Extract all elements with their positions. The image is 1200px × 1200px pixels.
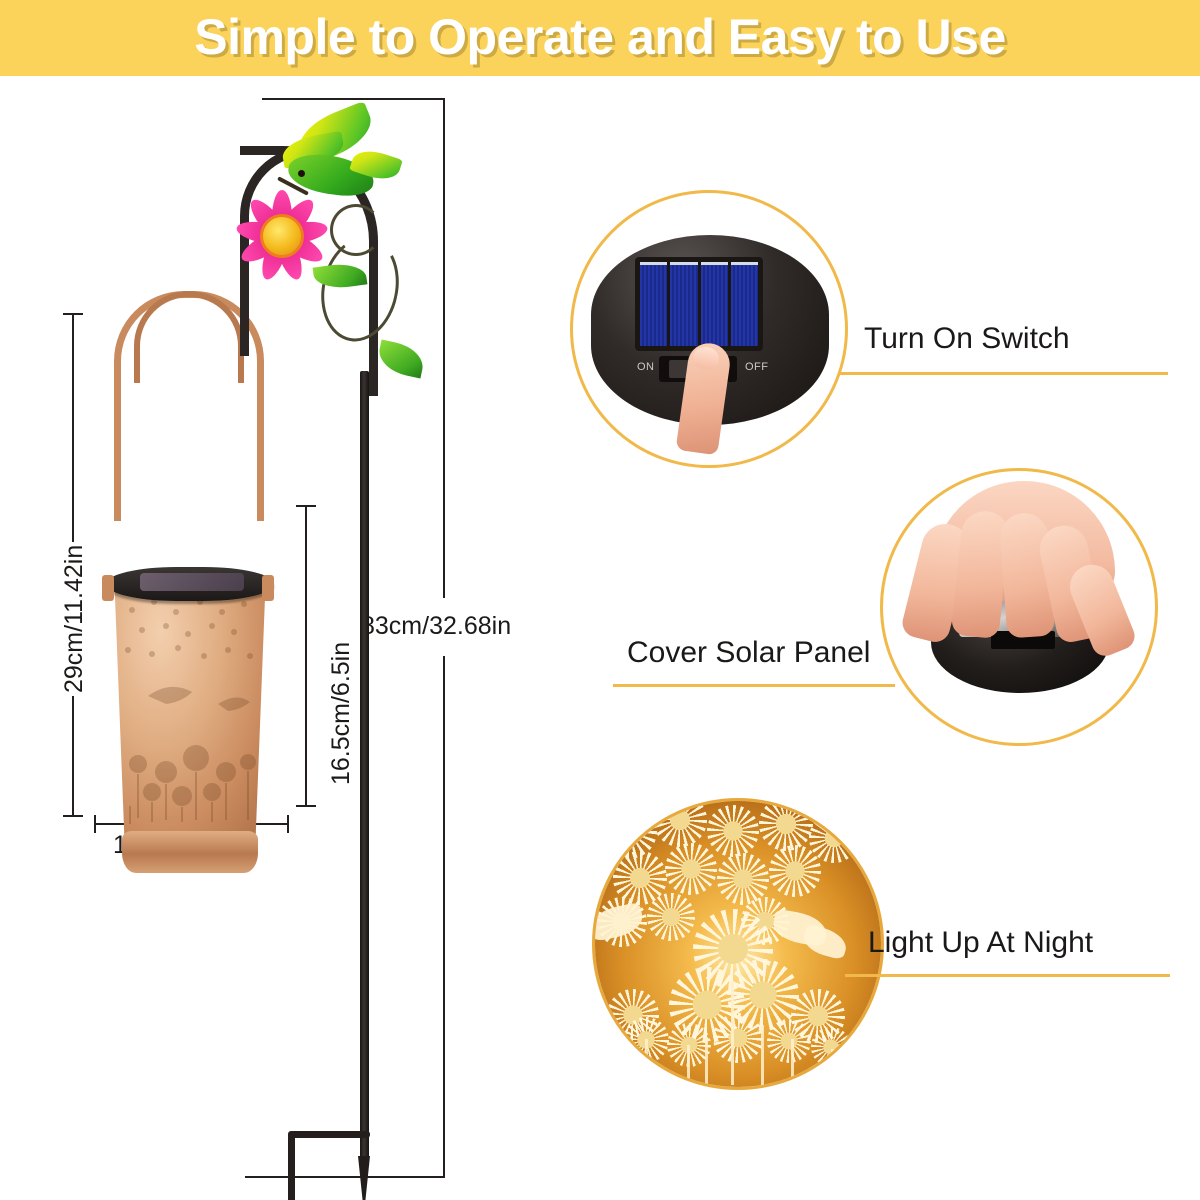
- lantern-cutout-pattern: [108, 586, 272, 838]
- callout-underline-light-up-at-night: [845, 974, 1170, 977]
- infographic-page: Simple to Operate and Easy to Use: [0, 0, 1200, 1200]
- callout-cover-solar-panel: [880, 468, 1158, 746]
- flower-stem: [831, 1049, 834, 1087]
- handle-mount-left: [102, 575, 114, 601]
- pv-cell: [701, 262, 728, 346]
- dim-tick-lantern-height-bottom: [63, 815, 83, 817]
- pv-cell: [731, 262, 758, 346]
- mesh-flower: [707, 805, 759, 857]
- callout-underline-turn-on-switch: [838, 372, 1168, 375]
- flower-stem: [731, 981, 734, 1085]
- stake-ground-spike: [358, 1156, 370, 1200]
- flower-center: [260, 214, 304, 258]
- flower-stem: [705, 1037, 708, 1087]
- page-title: Simple to Operate and Easy to Use: [0, 0, 1200, 76]
- handle-mount-right: [262, 575, 274, 601]
- callout-label-light-up-at-night: Light Up At Night: [868, 926, 1093, 960]
- flower-stem: [645, 1039, 648, 1087]
- sunflower-small: [713, 1013, 763, 1063]
- lantern-body: [108, 586, 272, 838]
- flower-stem: [761, 1025, 764, 1087]
- switch-label-on: ON: [637, 361, 655, 373]
- callout-light-up-at-night: [592, 798, 884, 1090]
- mesh-flower: [759, 798, 813, 851]
- stake-pole: [360, 371, 369, 1161]
- flower-stem: [687, 1045, 690, 1087]
- solar-cap-glass: [140, 573, 244, 591]
- dim-tick-width-left: [94, 815, 96, 833]
- shepherd-hook-stake: [230, 96, 470, 1196]
- sunflower-small: [767, 1019, 811, 1063]
- stake-foot-bar: [290, 1131, 370, 1138]
- product-dimensions-panel: 29cm/11.42in 16.5cm/6.5in 11cm/4.33in 83…: [0, 76, 560, 1200]
- flower-stem: [791, 1039, 794, 1087]
- callout-underline-cover-solar-panel: [613, 684, 895, 687]
- lantern-solar-cap: [106, 567, 274, 601]
- pv-cell: [640, 262, 667, 346]
- hummingbird-eye: [298, 170, 305, 177]
- switch-label-off: OFF: [745, 361, 769, 373]
- dim-label-lantern-height: 29cm/11.42in: [60, 542, 89, 696]
- header-banner: Simple to Operate and Easy to Use: [0, 0, 1200, 76]
- stake-foot-leg: [288, 1131, 295, 1200]
- mesh-flower: [647, 893, 695, 941]
- leaf-ornament-lower: [375, 340, 426, 379]
- dim-tick-lantern-height-top: [63, 313, 83, 315]
- callout-label-turn-on-switch: Turn On Switch: [864, 322, 1070, 356]
- callout-label-cover-solar-panel: Cover Solar Panel: [627, 636, 870, 670]
- mesh-flower: [665, 843, 717, 895]
- mesh-flower: [769, 845, 821, 897]
- mesh-flower: [601, 803, 657, 859]
- pv-cell: [670, 262, 697, 346]
- lantern-base: [122, 831, 258, 873]
- callout-turn-on-switch: ON OFF: [570, 190, 848, 468]
- solar-panel: [635, 257, 763, 351]
